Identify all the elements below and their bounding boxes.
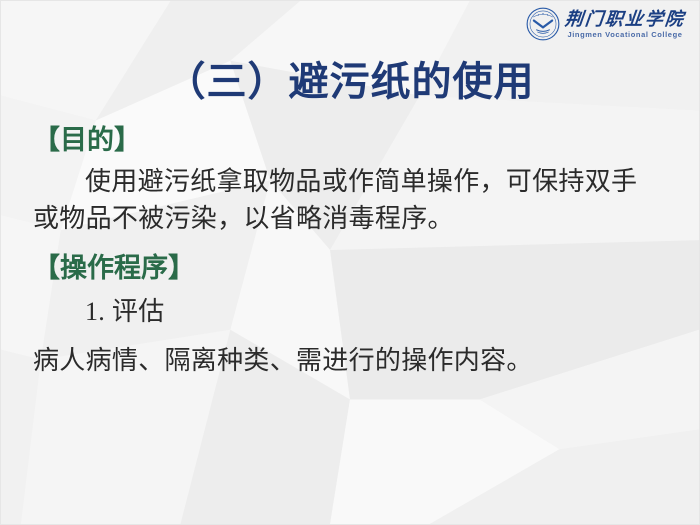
purpose-line-1: 使用避污纸拿取物品或作简单操作，可保持双手 <box>33 164 675 201</box>
spacer <box>33 155 675 164</box>
spacer <box>33 238 675 253</box>
slide-title: （三）避污纸的使用 <box>1 49 699 107</box>
procedure-step-1-label: 1. 评估 <box>33 294 675 331</box>
presentation-slide: 荆门职业学院 Jingmen Vocational College （三）避污纸… <box>0 0 700 525</box>
slide-body: 【目的】 使用避污纸拿取物品或作简单操作，可保持双手 或物品不被污染，以省略消毒… <box>33 125 675 380</box>
purpose-line-2: 或物品不被污染，以省略消毒程序。 <box>33 201 675 238</box>
spacer <box>33 283 675 294</box>
procedure-step-1-detail: 病人病情、隔离种类、需进行的操作内容。 <box>33 343 675 380</box>
section-heading-procedure: 【操作程序】 <box>33 253 675 283</box>
spacer <box>33 331 675 343</box>
college-seal-icon <box>526 7 560 41</box>
logo-chinese-name: 荆门职业学院 <box>564 10 686 28</box>
logo-english-name: Jingmen Vocational College <box>567 31 682 39</box>
section-heading-purpose: 【目的】 <box>33 125 675 155</box>
logo-wordmark: 荆门职业学院 Jingmen Vocational College <box>565 10 685 39</box>
institution-logo: 荆门职业学院 Jingmen Vocational College <box>526 7 685 41</box>
